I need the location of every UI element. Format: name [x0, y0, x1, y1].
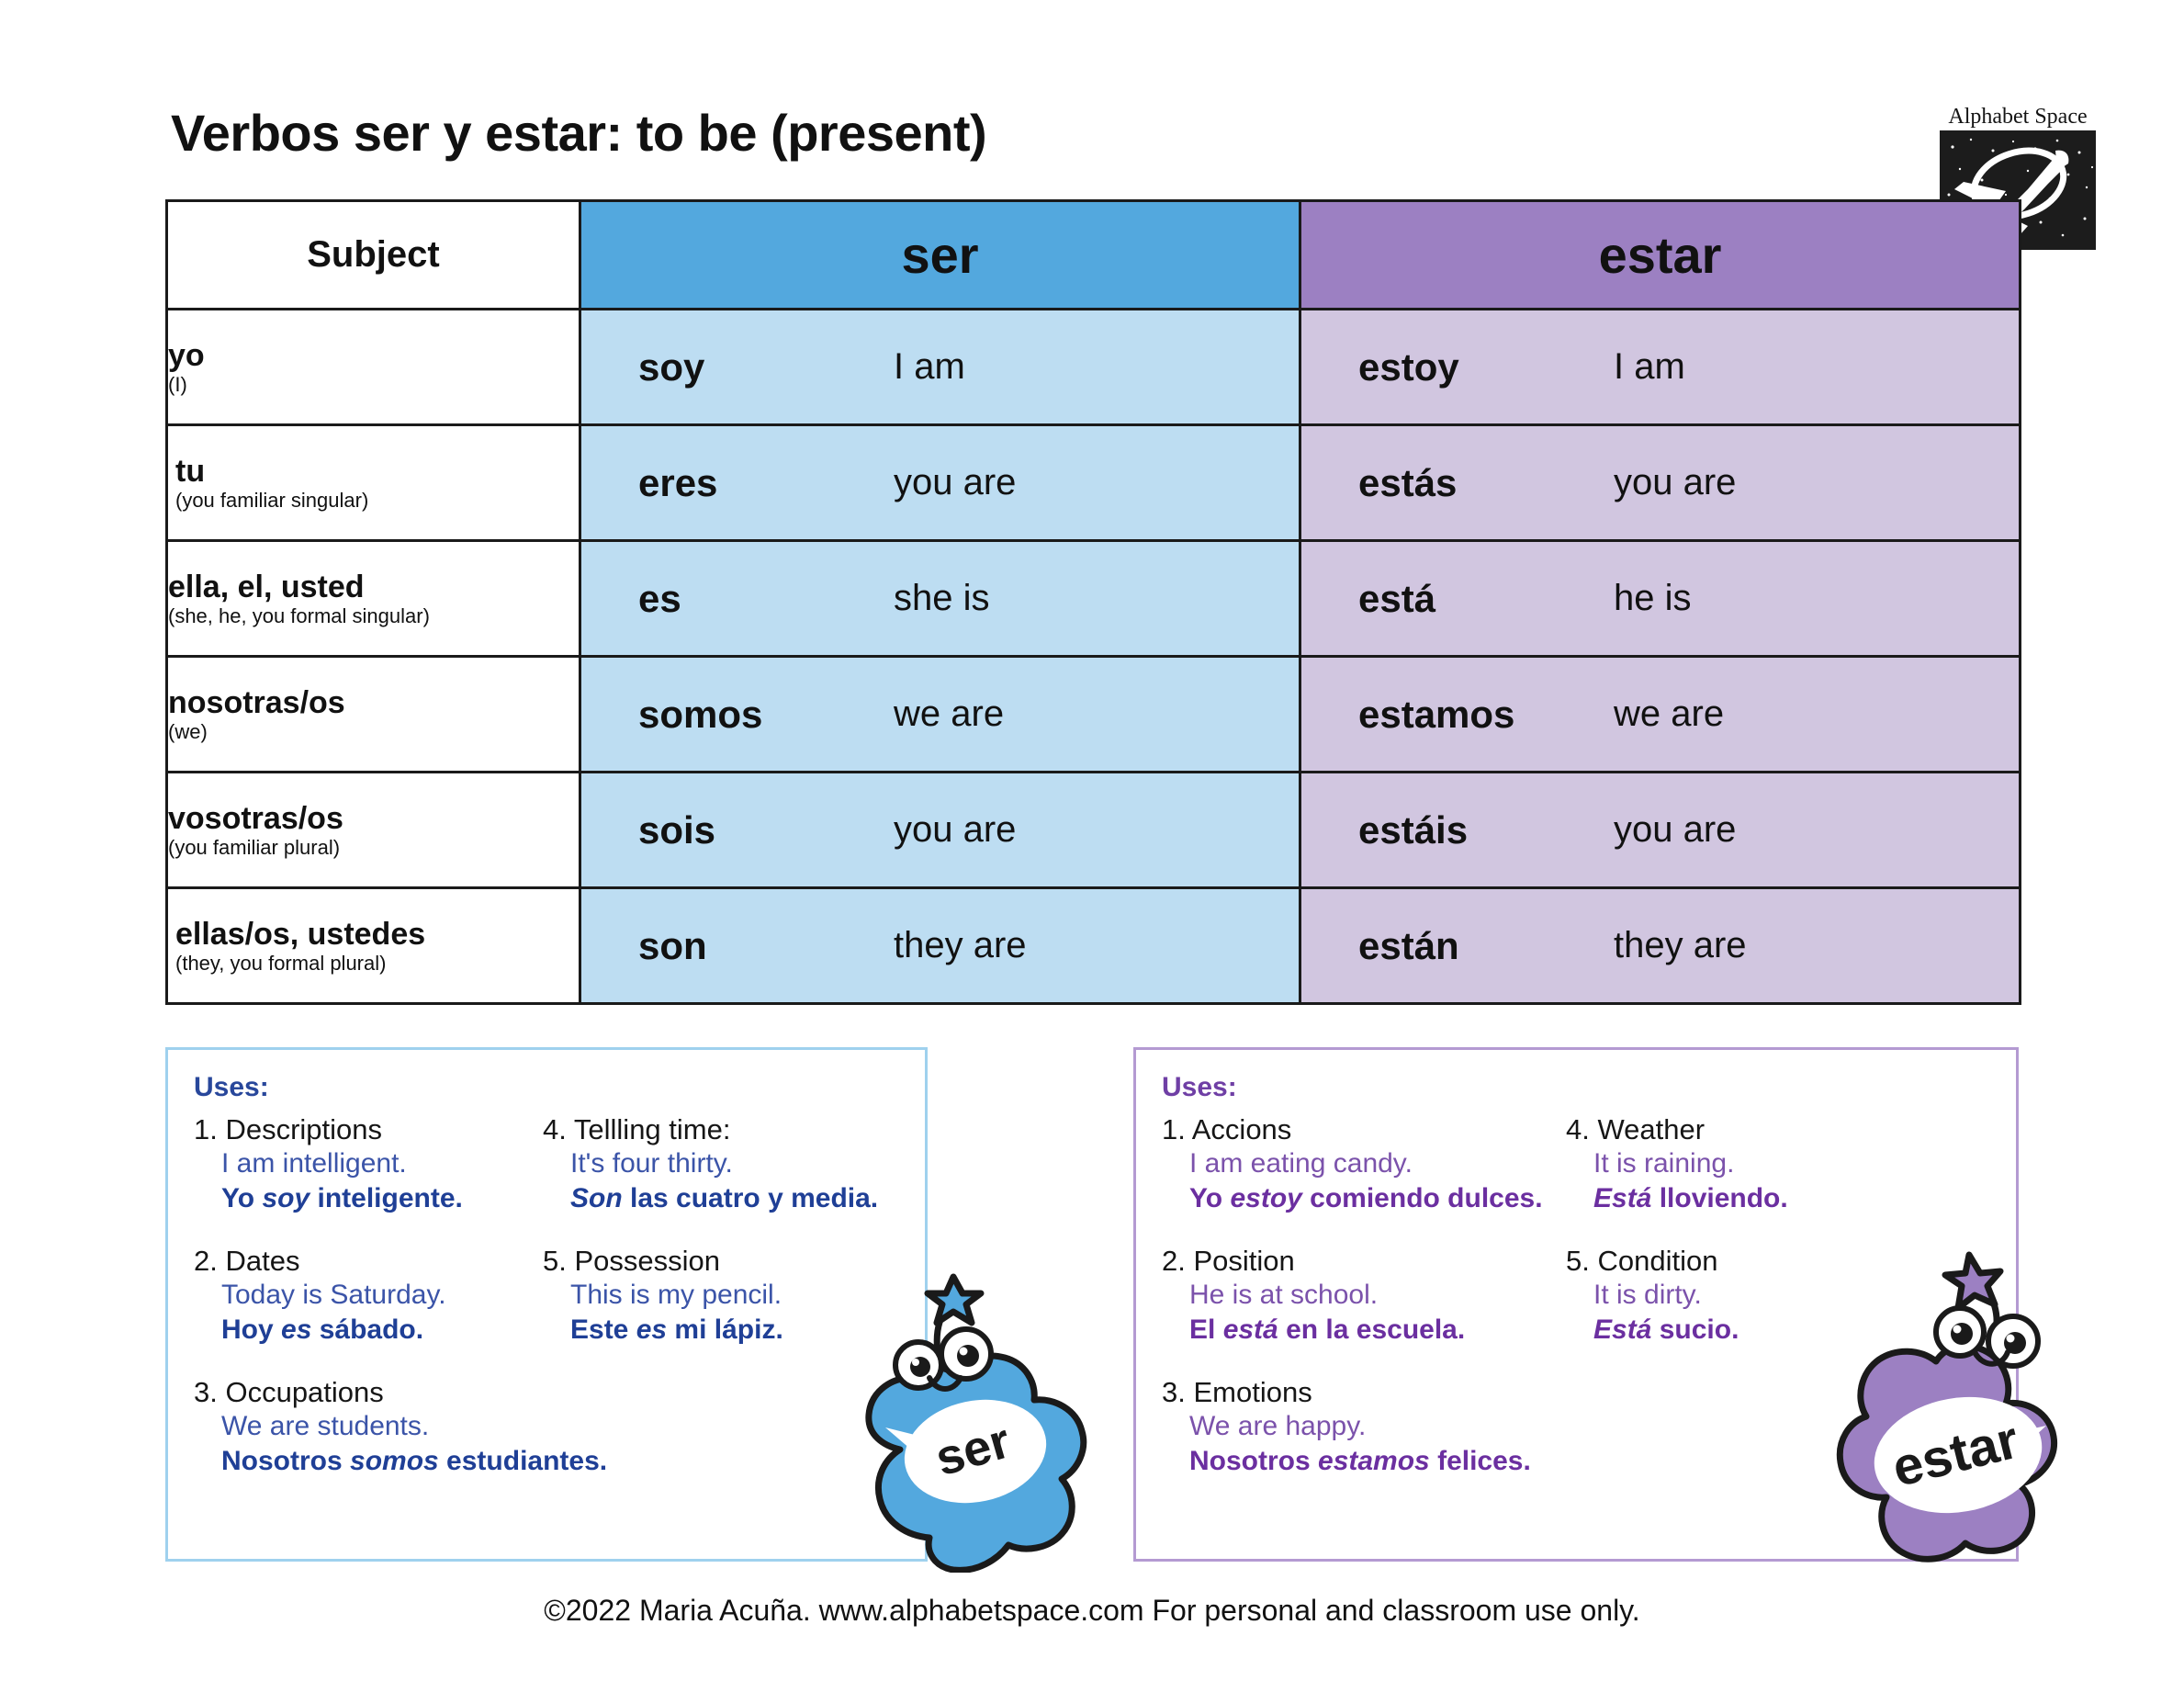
subject-gloss: (you familiar plural) [168, 836, 579, 859]
conjugation-table: Subject ser estar yo (I) soy I am [165, 199, 2021, 1005]
use-item: 3. Emotions We are happy. Nosotros estam… [1162, 1375, 1566, 1479]
use-label: 3. Emotions [1162, 1375, 1566, 1409]
use-spanish: Está lloviendo. [1566, 1181, 1988, 1216]
use-spanish: Nosotros estamos felices. [1162, 1444, 1566, 1479]
subject-cell: ellas/os, ustedes (they, you formal plur… [167, 888, 580, 1004]
subject-gloss: (they, you formal plural) [168, 952, 579, 975]
subject-pronoun: yo [168, 338, 579, 373]
table-row: nosotras/os (we) somos we are estamos we… [167, 657, 2021, 773]
estar-conjugation: está [1301, 577, 1604, 621]
worksheet-page: Verbos ser y estar: to be (present) Alph… [0, 0, 2184, 1681]
estar-uses-column-left: 1. Accions I am eating candy. Yo estoy c… [1162, 1112, 1566, 1506]
use-spanish: Son las cuatro y media. [543, 1181, 899, 1216]
estar-cell: estoy I am [1300, 310, 2021, 425]
use-english: Today is Saturday. [194, 1278, 543, 1313]
ser-conjugation: es [581, 577, 884, 621]
use-item: 3. Occupations We are students. Nosotros… [194, 1375, 543, 1479]
use-spanish: Yo soy inteligente. [194, 1181, 543, 1216]
subject-cell: ella, el, usted (she, he, you formal sin… [167, 541, 580, 657]
use-english: I am eating candy. [1162, 1146, 1566, 1181]
use-english: I am intelligent. [194, 1146, 543, 1181]
estar-conjugation: están [1301, 924, 1604, 968]
estar-cell: está he is [1300, 541, 2021, 657]
use-item: 5. Possession This is my pencil. Este es… [543, 1244, 899, 1348]
estar-conjugation: estoy [1301, 345, 1604, 389]
use-item: 2. Position He is at school. El está en … [1162, 1244, 1566, 1348]
use-item: 1. Accions I am eating candy. Yo estoy c… [1162, 1112, 1566, 1216]
use-item: 4. Tellling time: It's four thirty. Son … [543, 1112, 899, 1216]
copyright-footer: ©2022 Maria Acuña. www.alphabetspace.com… [0, 1594, 2184, 1628]
estar-translation: you are [1604, 462, 2019, 503]
ser-cell: sois you are [580, 773, 1300, 888]
use-spanish: Nosotros somos estudiantes. [194, 1444, 543, 1479]
subject-cell: tu (you familiar singular) [167, 425, 580, 541]
ser-conjugation: sois [581, 808, 884, 852]
ser-uses-column-right: 4. Tellling time: It's four thirty. Son … [543, 1112, 899, 1506]
subject-gloss: (she, he, you formal singular) [168, 604, 579, 627]
estar-translation: they are [1604, 925, 2019, 966]
table-row: ellas/os, ustedes (they, you formal plur… [167, 888, 2021, 1004]
estar-conjugation: estáis [1301, 808, 1604, 852]
ser-translation: they are [884, 925, 1299, 966]
ser-translation: I am [884, 346, 1299, 388]
subject-gloss: (we) [168, 720, 579, 743]
use-english: This is my pencil. [543, 1278, 899, 1313]
use-item: 2. Dates Today is Saturday. Hoy es sábad… [194, 1244, 543, 1348]
use-english: We are happy. [1162, 1409, 1566, 1444]
estar-translation: you are [1604, 809, 2019, 851]
use-spanish: El está en la escuela. [1162, 1313, 1566, 1348]
subject-cell: vosotras/os (you familiar plural) [167, 773, 580, 888]
subject-cell: yo (I) [167, 310, 580, 425]
use-item: 4. Weather It is raining. Está lloviendo… [1566, 1112, 1988, 1216]
ser-translation: you are [884, 462, 1299, 503]
ser-cell: son they are [580, 888, 1300, 1004]
table-row: tu (you familiar singular) eres you are … [167, 425, 2021, 541]
use-label: 1. Descriptions [194, 1112, 543, 1146]
ser-translation: she is [884, 578, 1299, 619]
estar-translation: I am [1604, 346, 2019, 388]
use-english: We are students. [194, 1409, 543, 1444]
ser-conjugation: soy [581, 345, 884, 389]
subject-gloss: (I) [168, 373, 579, 396]
use-spanish: Hoy es sábado. [194, 1313, 543, 1348]
estar-conjugation: estás [1301, 461, 1604, 505]
subject-gloss: (you familiar singular) [168, 489, 579, 512]
ser-conjugation: somos [581, 693, 884, 737]
estar-cell: estás you are [1300, 425, 2021, 541]
use-label: 1. Accions [1162, 1112, 1566, 1146]
ser-cell: eres you are [580, 425, 1300, 541]
ser-uses-panel: Uses: 1. Descriptions I am intelligent. … [165, 1047, 928, 1562]
ser-conjugation: eres [581, 461, 884, 505]
estar-cell: estáis you are [1300, 773, 2021, 888]
use-english: It is raining. [1566, 1146, 1988, 1181]
logo-label: Alphabet Space [1940, 105, 2096, 129]
use-label: 5. Possession [543, 1244, 899, 1278]
use-label: 2. Position [1162, 1244, 1566, 1278]
header-ser: ser [580, 201, 1300, 310]
use-english: He is at school. [1162, 1278, 1566, 1313]
use-spanish: Este es mi lápiz. [543, 1313, 899, 1348]
ser-uses-column-left: 1. Descriptions I am intelligent. Yo soy… [194, 1112, 543, 1506]
subject-cell: nosotras/os (we) [167, 657, 580, 773]
estar-conjugation: estamos [1301, 693, 1604, 737]
table-header-row: Subject ser estar [167, 201, 2021, 310]
estar-mascot-icon: estar [1822, 1246, 2098, 1569]
use-label: 3. Occupations [194, 1375, 543, 1409]
page-title: Verbos ser y estar: to be (present) [171, 103, 986, 163]
use-label: 4. Weather [1566, 1112, 1988, 1146]
estar-translation: we are [1604, 694, 2019, 735]
table-row: yo (I) soy I am estoy I am [167, 310, 2021, 425]
ser-translation: we are [884, 694, 1299, 735]
ser-uses-heading: Uses: [194, 1072, 899, 1103]
ser-translation: you are [884, 809, 1299, 851]
estar-uses-heading: Uses: [1162, 1072, 1990, 1103]
estar-cell: estamos we are [1300, 657, 2021, 773]
use-label: 2. Dates [194, 1244, 543, 1278]
subject-pronoun: ellas/os, ustedes [168, 917, 579, 952]
use-english: It's four thirty. [543, 1146, 899, 1181]
ser-mascot-icon: ser [854, 1269, 1102, 1573]
header-subject: Subject [167, 201, 580, 310]
subject-pronoun: tu [168, 454, 579, 489]
subject-pronoun: nosotras/os [168, 685, 579, 720]
use-label: 4. Tellling time: [543, 1112, 899, 1146]
ser-cell: somos we are [580, 657, 1300, 773]
ser-cell: soy I am [580, 310, 1300, 425]
subject-pronoun: ella, el, usted [168, 570, 579, 604]
ser-conjugation: son [581, 924, 884, 968]
table-row: ella, el, usted (she, he, you formal sin… [167, 541, 2021, 657]
header-estar: estar [1300, 201, 2021, 310]
estar-cell: están they are [1300, 888, 2021, 1004]
table-row: vosotras/os (you familiar plural) sois y… [167, 773, 2021, 888]
use-item: 1. Descriptions I am intelligent. Yo soy… [194, 1112, 543, 1216]
subject-pronoun: vosotras/os [168, 801, 579, 836]
estar-translation: he is [1604, 578, 2019, 619]
use-spanish: Yo estoy comiendo dulces. [1162, 1181, 1566, 1216]
ser-cell: es she is [580, 541, 1300, 657]
